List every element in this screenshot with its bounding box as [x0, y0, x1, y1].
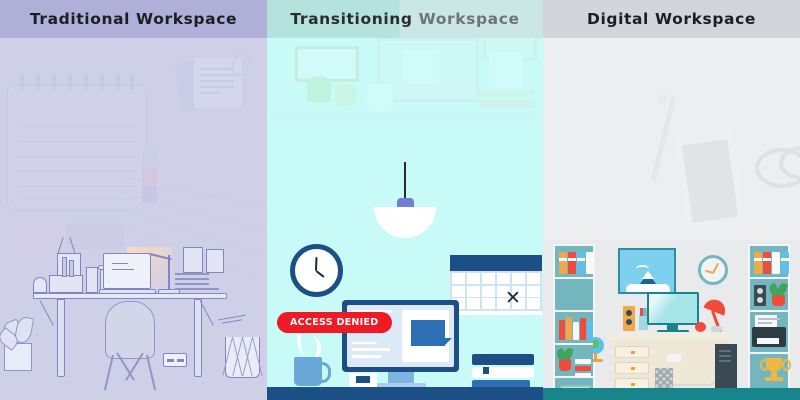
desk-surface-bar — [267, 387, 543, 400]
desk-leg-left — [57, 299, 65, 377]
laptop-screen-icon — [103, 253, 151, 289]
desk-lamp-icon — [705, 300, 727, 312]
chair-icon — [105, 301, 155, 359]
panel-traditional-header: Traditional Workspace — [0, 0, 267, 38]
power-cable — [667, 358, 721, 386]
shelf-row-plant-books — [555, 345, 593, 378]
workspace-comparison-banner: Traditional Workspace — [0, 0, 800, 400]
clipboard-icon — [206, 249, 224, 273]
monitor-document-card — [402, 310, 449, 362]
panel-digital-header: Digital Workspace — [543, 0, 800, 38]
wall-socket-icon — [163, 353, 187, 367]
waste-bin-icon — [655, 368, 673, 389]
desk-speaker-icon — [623, 306, 635, 331]
panel-transitioning-title-lead: Transitioning — [290, 10, 412, 28]
floor-bar — [543, 388, 800, 400]
book-icon — [69, 260, 74, 277]
desk-lamp-pole — [168, 255, 170, 293]
document-icon — [411, 320, 445, 346]
shelf-box-icon — [49, 275, 83, 293]
panel-transitioning-workspace: Transitioning Workspace — [267, 0, 543, 400]
wall-clock-icon — [290, 244, 343, 297]
keyboard-icon — [349, 373, 377, 387]
note-icon — [183, 247, 203, 273]
panel-digital-title: Digital Workspace — [587, 10, 756, 28]
panel-traditional-title: Traditional Workspace — [30, 10, 237, 28]
shelf-row-books — [555, 312, 593, 345]
bookshelf-right — [748, 244, 790, 400]
desk-leg-right — [194, 299, 202, 377]
shelf-row-trophy — [750, 354, 788, 392]
book-stack-icon — [472, 352, 534, 391]
shelf-row-binders — [750, 246, 788, 279]
shelf-row-globe — [555, 279, 593, 312]
access-denied-badge: ACCESS DENIED — [277, 312, 392, 333]
shelf-row-binders — [555, 246, 593, 279]
bookshelf-left — [553, 244, 595, 400]
digital-office-illustration — [543, 240, 800, 400]
computer-monitor-icon — [647, 292, 699, 325]
calendar-cancel-mark: ✕ — [505, 287, 521, 309]
desk-papers-icon — [175, 273, 219, 293]
tower-pc-icon — [715, 344, 737, 389]
shelf-row-speaker-plant — [750, 279, 788, 312]
panel-traditional-workspace: Traditional Workspace — [0, 0, 267, 400]
waste-bin-icon — [225, 337, 260, 378]
wall-calendar-icon: ✕ — [450, 255, 542, 315]
panel-digital-workspace: Digital Workspace — [543, 0, 800, 400]
panel-transitioning-title-tail: Workspace — [419, 10, 520, 28]
paper-stack-watermark-icon — [178, 58, 242, 113]
apple-icon — [695, 322, 706, 332]
book-icon — [62, 257, 67, 277]
panel-transitioning-header: Transitioning Workspace — [267, 0, 543, 38]
coffee-mug-icon — [294, 357, 322, 386]
traditional-desk-illustration — [0, 225, 267, 400]
shelf-row-printer — [750, 312, 788, 354]
shelf-box-icon — [86, 267, 98, 293]
pendant-lamp-icon — [374, 162, 436, 238]
desk-top — [607, 332, 732, 340]
framed-picture-icon — [618, 248, 676, 294]
bell-jar-icon — [33, 277, 47, 293]
wall-clock-icon — [698, 255, 728, 285]
